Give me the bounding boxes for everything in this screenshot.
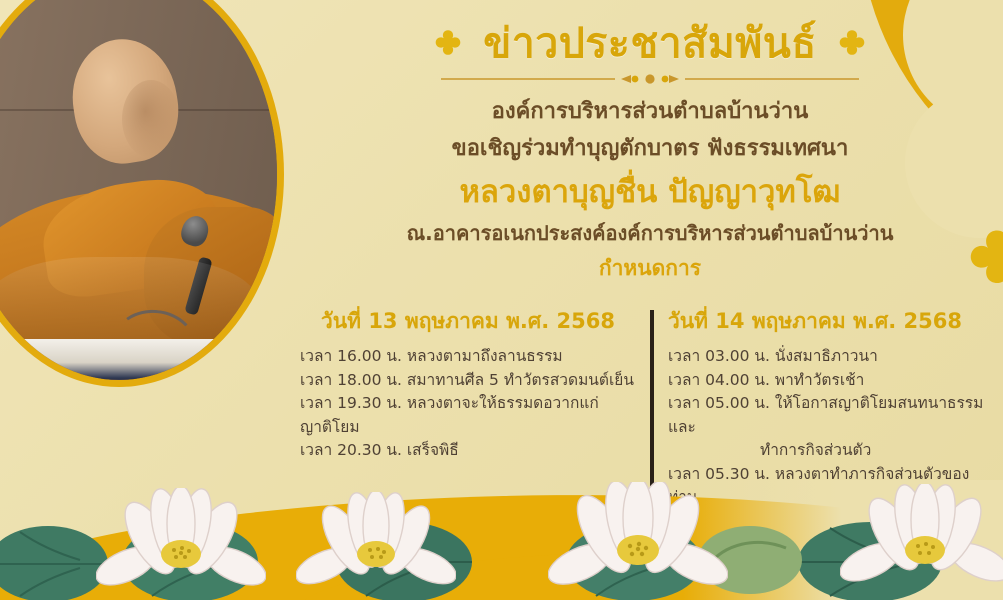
day2-item: ทำการกิจส่วนตัว (668, 439, 990, 463)
lotus-flower-icon (96, 488, 266, 598)
day1-title: วันที่ 13 พฤษภาคม พ.ศ. 2568 (300, 305, 636, 338)
venue-line: ณ.อาคารอเนกประสงค์องค์การบริหารส่วนตำบลบ… (300, 219, 1000, 248)
day2-item: เวลา 03.00 น. นั่งสมาธิภาวนา (668, 345, 990, 369)
headline-block: ข่าวประชาสัมพันธ์ องค์การบริหารส่วนตำบลบ… (300, 18, 1000, 285)
day2-item: เวลา 04.00 น. พาทำวัตรเช้า (668, 369, 990, 393)
bottom-lotus-band (0, 480, 1003, 600)
page-title: ข่าวประชาสัมพันธ์ (483, 18, 817, 69)
monk-photo (0, 0, 277, 380)
lotus-flower-icon (548, 482, 728, 598)
title-row: ข่าวประชาสัมพันธ์ (300, 18, 1000, 69)
monk-photo-frame (0, 0, 284, 387)
invitation-line: ขอเชิญร่วมทำบุญตักบาตร ฟังธรรมเทศนา (300, 133, 1000, 165)
lotus-flower-icon (840, 484, 1003, 594)
lotus-flower-icon (296, 492, 456, 596)
organization-name: องค์การบริหารส่วนตำบลบ้านว่าน (300, 96, 1000, 128)
day1-item: เวลา 16.00 น. หลวงตามาถึงลานธรรม (300, 345, 636, 369)
day1-item: เวลา 20.30 น. เสร็จพิธี (300, 439, 636, 463)
agenda-heading: กำหนดการ (300, 252, 1000, 285)
quatrefoil-left-icon (433, 29, 463, 59)
monk-name: หลวงตาบุญชื่น ปัญญาวุทโฒ (300, 172, 1000, 214)
day2-title: วันที่ 14 พฤษภาคม พ.ศ. 2568 (668, 305, 990, 338)
poster-canvas: monk-speaking-into-microphone-photo ข่าว… (0, 0, 1003, 600)
quatrefoil-right-icon (837, 29, 867, 59)
title-divider-ornament (435, 72, 865, 86)
day2-item: เวลา 05.00 น. ให้โอกาสญาติโยมสนทนาธรรมแล… (668, 392, 990, 439)
day1-item: เวลา 18.00 น. สมาทานศีล 5 ทำวัตรสวดมนต์เ… (300, 369, 636, 393)
day1-item: เวลา 19.30 น. หลวงตาจะให้ธรรมดอวากแก่ญาต… (300, 392, 636, 439)
